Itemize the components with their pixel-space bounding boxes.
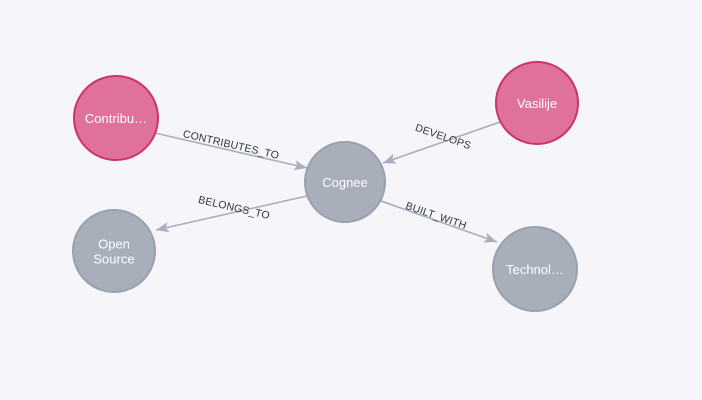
edge-line-contributes-to[interactable] bbox=[155, 133, 307, 168]
nodes-layer: Contribu… Vasilije Cognee OpenSource Tec… bbox=[73, 62, 578, 311]
node-circle-contributor[interactable] bbox=[74, 76, 158, 160]
edge-develops[interactable]: DEVELOPS bbox=[383, 122, 500, 163]
edge-label-develops: DEVELOPS bbox=[414, 122, 473, 152]
node-contributor[interactable]: Contribu… bbox=[74, 76, 158, 160]
node-circle-vasilije[interactable] bbox=[496, 62, 578, 144]
edge-belongs-to[interactable]: BELONGS_TO bbox=[156, 194, 307, 230]
edge-label-contributes-to: CONTRIBUTES_TO bbox=[182, 128, 280, 162]
edge-label-built-with: BUILT_WITH bbox=[404, 200, 468, 232]
edge-line-develops[interactable] bbox=[383, 122, 500, 163]
edge-built-with[interactable]: BUILT_WITH bbox=[381, 200, 497, 242]
edge-contributes-to[interactable]: CONTRIBUTES_TO bbox=[155, 128, 307, 168]
node-cognee[interactable]: Cognee bbox=[305, 142, 385, 222]
edge-line-belongs-to[interactable] bbox=[156, 196, 307, 230]
node-circle-open-source[interactable] bbox=[73, 210, 155, 292]
edge-line-built-with[interactable] bbox=[381, 201, 497, 242]
node-circle-technology[interactable] bbox=[493, 227, 577, 311]
knowledge-graph-canvas[interactable]: CONTRIBUTES_TO DEVELOPS BELONGS_TO BUILT… bbox=[0, 0, 702, 400]
node-circle-cognee[interactable] bbox=[305, 142, 385, 222]
node-technology[interactable]: Technol… bbox=[493, 227, 577, 311]
node-open-source[interactable]: OpenSource bbox=[73, 210, 155, 292]
node-vasilije[interactable]: Vasilije bbox=[496, 62, 578, 144]
